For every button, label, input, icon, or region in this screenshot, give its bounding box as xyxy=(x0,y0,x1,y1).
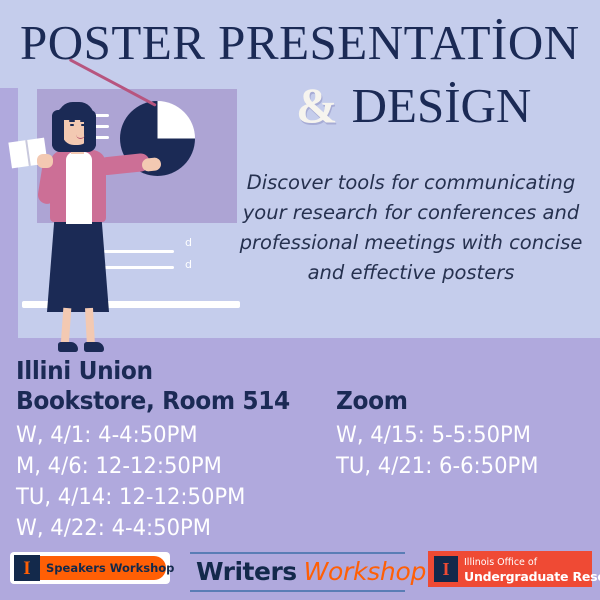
description-text: Discover tools for communicating your re… xyxy=(230,168,592,288)
speakers-workshop-label: Speakers Workshop xyxy=(46,561,174,575)
writers-workshop-rule-top xyxy=(190,552,405,554)
undergraduate-research-line-2: Undergraduate Research xyxy=(464,569,600,584)
venue-heading-line-2: Bookstore, Room 514 xyxy=(16,386,314,416)
presenter-hair-side-left xyxy=(52,110,64,150)
session-list-zoom: W, 4/15: 5-5:50PM TU, 4/21: 6-6:50PM xyxy=(336,420,596,482)
session-item: M, 4/6: 12-12:50PM xyxy=(16,451,323,482)
board-line xyxy=(100,266,174,269)
page-title-line-2: &DESİGN xyxy=(296,76,531,135)
presenter-brow-right xyxy=(80,120,86,122)
presenter-eye-left xyxy=(70,124,74,126)
board-glyph-bottom: d xyxy=(185,258,192,271)
venue-block-illini-union: Illini Union Bookstore, Room 514 W, 4/1:… xyxy=(16,356,336,544)
presenter-illustration: p d xyxy=(10,80,242,338)
illinois-i-glyph: I xyxy=(23,559,30,578)
presenter-shoe-right xyxy=(84,342,104,352)
session-item: W, 4/15: 5-5:50PM xyxy=(336,420,586,451)
logo-speakers-workshop: I Speakers Workshop xyxy=(10,552,170,584)
poster-canvas: POSTER PRESENTATİON &DESİGN Discover too… xyxy=(0,0,600,600)
board-line xyxy=(104,250,174,253)
page-title-design-word: DESİGN xyxy=(352,78,532,133)
presenter-hand-left xyxy=(37,154,53,168)
writers-workshop-wordmark: Writers Workshop xyxy=(196,558,426,586)
presenter-hair-side-right xyxy=(84,110,96,150)
undergraduate-research-line-1: Illinois Office of xyxy=(464,557,600,569)
undergraduate-research-text: Illinois Office of Undergraduate Researc… xyxy=(464,557,600,584)
presenter-leg-right xyxy=(85,308,95,346)
session-item: W, 4/22: 4-4:50PM xyxy=(16,513,323,544)
page-title-line-1: POSTER PRESENTATİON xyxy=(20,16,580,70)
footer-logo-bar: I Speakers Workshop Writers Workshop I I… xyxy=(0,548,600,594)
illinois-i-glyph: I xyxy=(442,560,449,578)
board-glyph-top: p xyxy=(185,237,192,250)
illinois-i-icon: I xyxy=(14,555,40,581)
writers-workshop-rule-bottom xyxy=(190,590,405,592)
ampersand-glyph: & xyxy=(296,77,338,133)
session-item: TU, 4/14: 12-12:50PM xyxy=(16,482,323,513)
session-item: W, 4/1: 4-4:50PM xyxy=(16,420,323,451)
presenter-shirt xyxy=(66,152,92,224)
presenter-shoe-left xyxy=(58,342,78,352)
presenter-eye-right xyxy=(81,124,85,126)
writers-workshop-word-1: Writers xyxy=(196,557,297,586)
venue-heading-zoom: Zoom xyxy=(336,386,578,416)
writers-workshop-word-2: Workshop xyxy=(304,557,426,586)
session-item: TU, 4/21: 6-6:50PM xyxy=(336,451,586,482)
presenter-brow-left xyxy=(69,120,75,122)
logo-undergraduate-research: I Illinois Office of Undergraduate Resea… xyxy=(428,551,592,587)
venue-heading-line-1: Illini Union xyxy=(16,356,314,386)
presenter-skirt xyxy=(47,218,109,312)
session-list-illini-union: W, 4/1: 4-4:50PM M, 4/6: 12-12:50PM TU, … xyxy=(16,420,336,544)
logo-writers-workshop: Writers Workshop xyxy=(190,548,405,594)
illinois-i-icon: I xyxy=(434,556,458,582)
venue-block-zoom: Zoom W, 4/15: 5-5:50PM TU, 4/21: 6-6:50P… xyxy=(336,386,596,482)
